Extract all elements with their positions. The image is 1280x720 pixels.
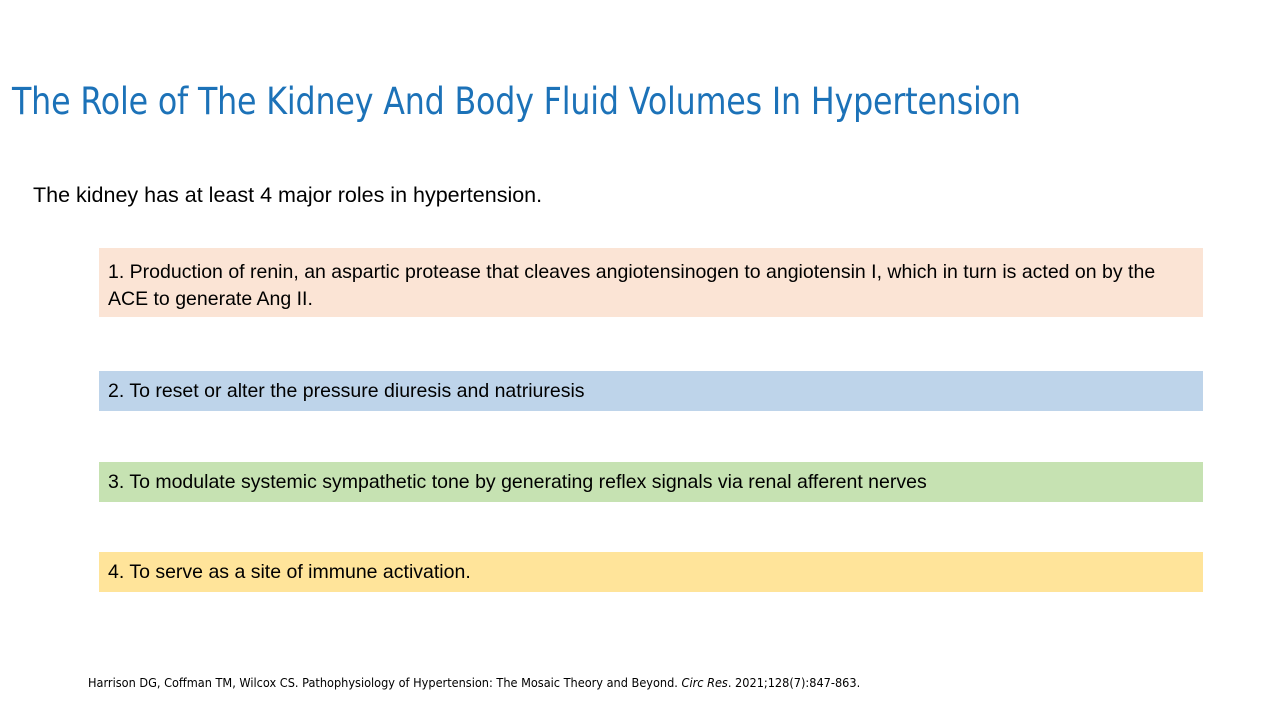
slide-canvas: The Role of The Kidney And Body Fluid Vo… bbox=[0, 0, 1280, 720]
role-item-3: 3. To modulate systemic sympathetic tone… bbox=[99, 462, 1203, 502]
role-item-4-label: 4. To serve as a site of immune activati… bbox=[108, 559, 1194, 586]
page-title: The Role of The Kidney And Body Fluid Vo… bbox=[12, 78, 1060, 124]
citation-authors-title: Harrison DG, Coffman TM, Wilcox CS. Path… bbox=[88, 676, 682, 690]
citation: Harrison DG, Coffman TM, Wilcox CS. Path… bbox=[88, 675, 860, 692]
role-item-3-label: 3. To modulate systemic sympathetic tone… bbox=[108, 469, 1194, 496]
role-item-1-label: 1. Production of renin, an aspartic prot… bbox=[108, 259, 1194, 313]
role-item-1: 1. Production of renin, an aspartic prot… bbox=[99, 248, 1203, 317]
citation-journal-name: Circ Res bbox=[682, 676, 728, 690]
intro-text: The kidney has at least 4 major roles in… bbox=[33, 181, 542, 210]
role-item-2: 2. To reset or alter the pressure diures… bbox=[99, 371, 1203, 411]
role-item-2-label: 2. To reset or alter the pressure diures… bbox=[108, 378, 1194, 405]
role-item-4: 4. To serve as a site of immune activati… bbox=[99, 552, 1203, 592]
citation-details: . 2021;128(7):847-863. bbox=[728, 676, 860, 690]
